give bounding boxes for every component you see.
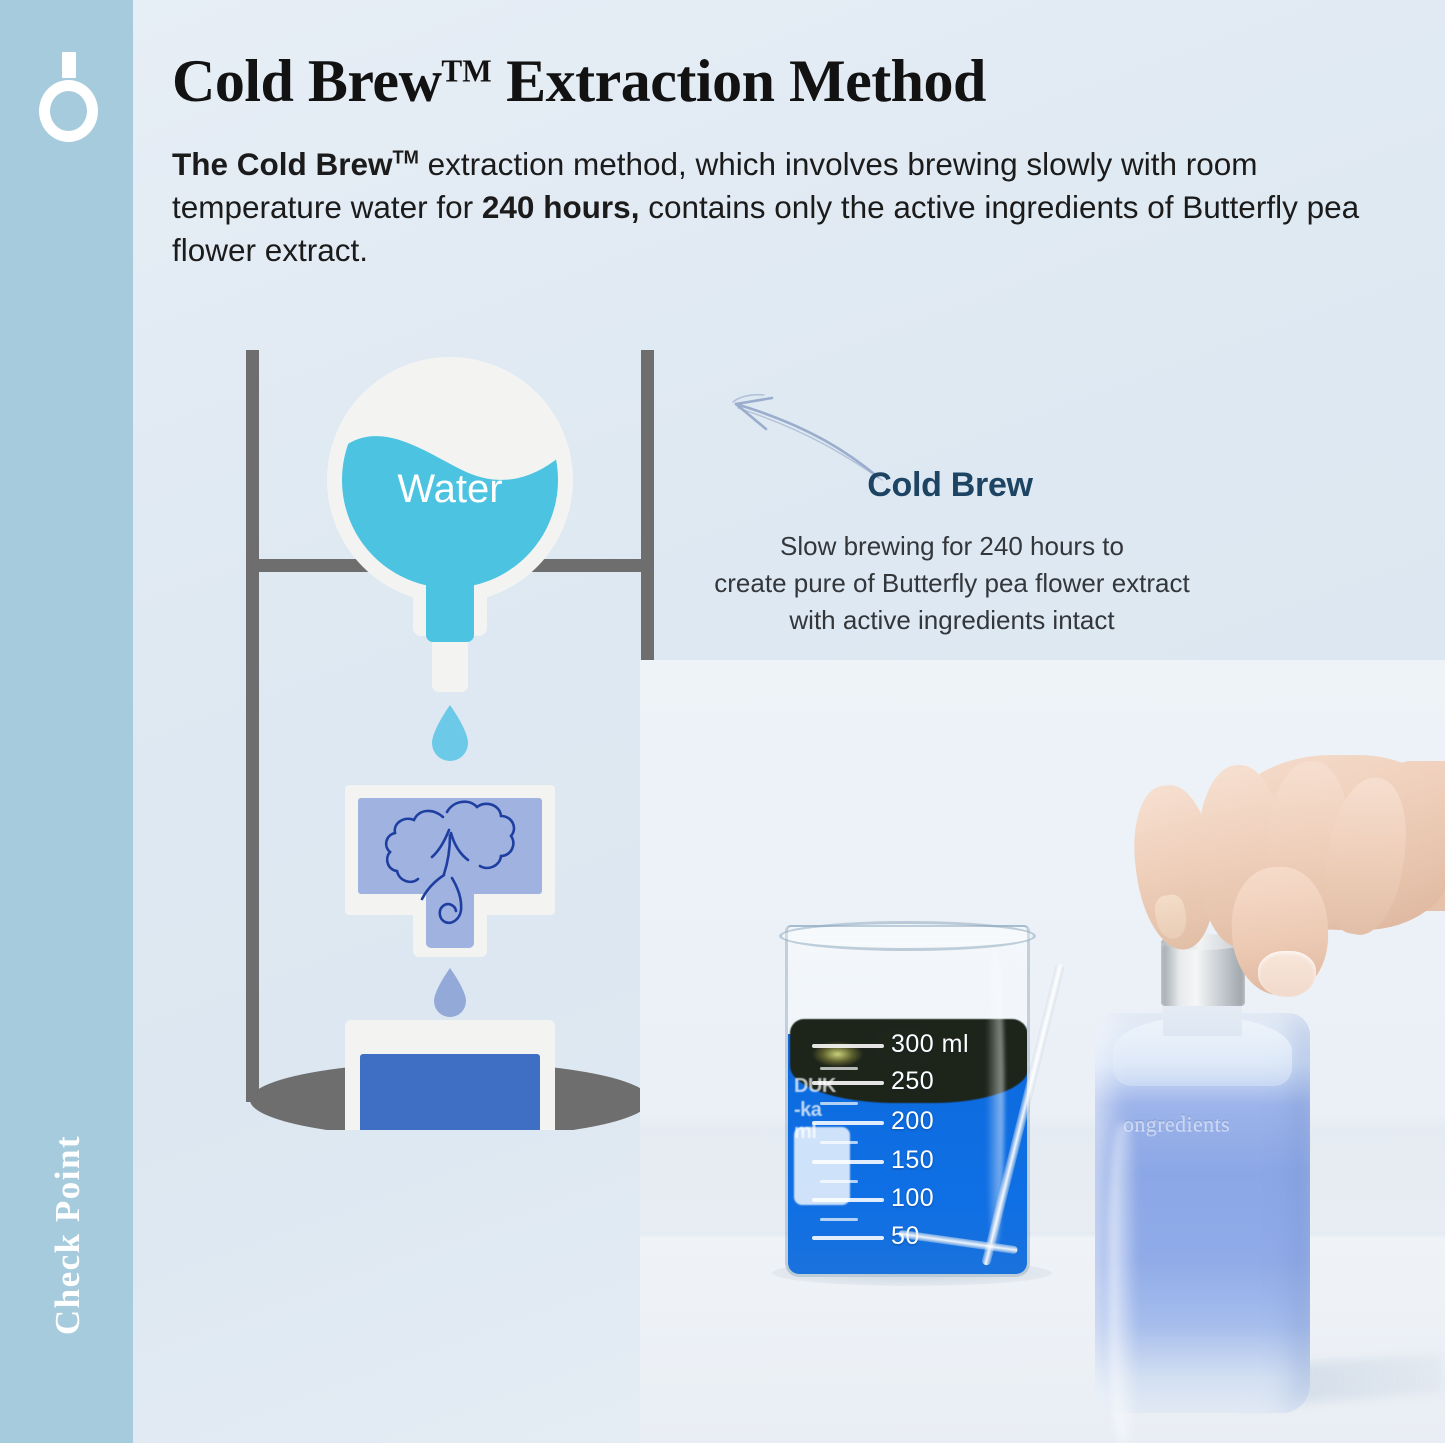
extract-collection-vessel [345, 1020, 555, 1130]
beaker-brand-line-3: ml [794, 1121, 816, 1144]
product-photo: 300 ml 250 200 150 [640, 660, 1445, 1443]
subtitle-lead: The Cold Brew [172, 146, 393, 182]
bottle-highlight [1109, 1123, 1139, 1443]
table-edge [640, 1232, 1445, 1240]
brand-logo-icon [0, 46, 133, 156]
water-neck-fill [426, 570, 474, 642]
water-reservoir-bulb: Water [327, 357, 573, 692]
annotation-line-2: create pure of Butterfly pea flower extr… [672, 565, 1232, 602]
page-title-trademark: TM [441, 54, 491, 89]
thumbnail [1258, 951, 1316, 997]
extract-fill [360, 1054, 540, 1130]
water-drop-icon-lower [434, 968, 466, 1017]
logo-diaeresis-mark [62, 52, 76, 78]
poster-root: Check Point Cold BrewTM Extraction Metho… [0, 0, 1445, 1443]
hand-holding-bottle-icon [1080, 755, 1445, 1045]
annotation-line-1: Slow brewing for 240 hours to [672, 528, 1232, 565]
stand-post-left [246, 350, 259, 1102]
left-sidebar: Check Point [0, 0, 133, 1443]
beaker-rim [779, 921, 1036, 951]
beaker-brand-line-1: DUK [794, 1075, 836, 1098]
check-point-vertical-label: Check Point [48, 1095, 88, 1375]
beaker-brand-line-2: -ka [794, 1099, 821, 1122]
subtitle-highlight-hours: 240 hours, [482, 189, 640, 225]
cold-brew-apparatus-illustration: Water [200, 330, 700, 1130]
annotation-line-3: with active ingredients intact [672, 602, 1232, 639]
page-title: Cold BrewTM Extraction Method [172, 50, 1412, 113]
water-label: Water [397, 467, 502, 511]
page-title-rest: Extraction Method [492, 48, 986, 114]
logo-o-ring [39, 80, 98, 142]
page-title-main: Cold Brew [172, 48, 441, 114]
flower-filter-cartridge [345, 785, 555, 957]
bottle-emboss-text: ongredients [1123, 1111, 1230, 1137]
subtitle-trademark: TM [393, 147, 419, 168]
page-subtitle: The Cold BrewTM extraction method, which… [172, 143, 1417, 272]
annotation-title: Cold Brew [700, 466, 1200, 505]
water-drop-icon-upper [432, 705, 468, 761]
annotation-body: Slow brewing for 240 hours to create pur… [672, 528, 1232, 640]
